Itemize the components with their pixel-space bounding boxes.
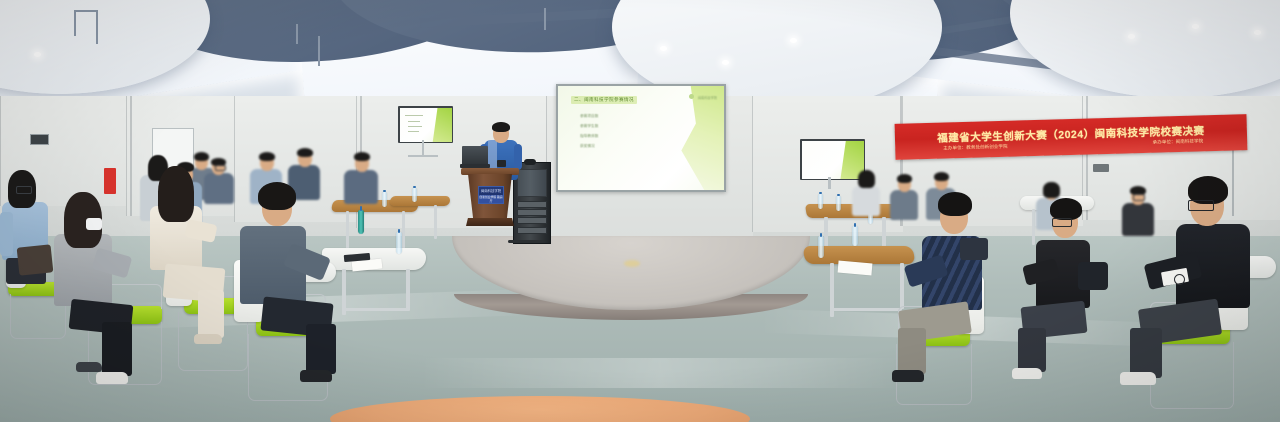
presenter-hair — [492, 122, 510, 132]
audience-member — [0, 168, 60, 318]
monitor-text-line — [408, 131, 419, 132]
leg-skirt — [198, 290, 224, 338]
ceiling-downlight — [790, 38, 797, 43]
ceiling-downlight — [1192, 24, 1199, 29]
shoe — [300, 370, 332, 382]
slide-bullet: 参赛项目数 — [580, 114, 598, 119]
leg — [306, 324, 336, 374]
ceiling-pipe — [74, 10, 96, 12]
water-bottle[interactable] — [396, 232, 402, 254]
table-leg — [406, 269, 410, 311]
ceiling-downlight — [1128, 34, 1135, 39]
hair — [258, 182, 296, 210]
shoe — [194, 334, 222, 344]
raised-platform — [452, 236, 810, 326]
wall-control-panel[interactable] — [30, 134, 49, 145]
projection-screen: 二、闽南科技学院参赛情况 闽南科技学院 参赛项目数 参赛学生数 指导教师数 获奖… — [558, 86, 724, 190]
hair — [297, 148, 313, 157]
audience-member — [52, 186, 148, 384]
shoe — [892, 370, 924, 382]
podium-laptop-base — [460, 164, 490, 168]
photo-scene: 福建省大学生创新大赛（2024）闽南科技学院校赛决赛 主办单位：教务处创新创业学… — [0, 0, 1280, 422]
podium-plaque-subtext: 创新创业学院 路演厅 — [479, 195, 503, 203]
rack-unit — [517, 209, 547, 216]
water-bottle[interactable] — [412, 188, 417, 202]
ceiling-downlight — [1254, 30, 1261, 35]
audience-member — [344, 152, 378, 204]
slide-bullet: 参赛学生数 — [580, 124, 598, 129]
thermos-bottle[interactable] — [358, 210, 364, 234]
podium-microphone-base — [497, 160, 506, 167]
monitor-text-line — [405, 115, 423, 116]
table-leg — [402, 211, 405, 251]
podium-plaque-text: 闽南科技学院 — [479, 188, 503, 193]
monitor-green-wedge — [432, 108, 452, 142]
table-crossbar — [344, 308, 408, 311]
hair — [1050, 198, 1082, 220]
ceiling-pipe — [296, 24, 298, 44]
slide-green-wedge — [672, 86, 724, 190]
slide-logo-mark — [689, 94, 694, 99]
podium-plaque: 闽南科技学院 创新创业学院 路演厅 — [478, 186, 504, 204]
water-bottle[interactable] — [836, 196, 841, 211]
audience-member — [1022, 196, 1108, 386]
left-monitor-stand — [422, 140, 424, 156]
slide-title: 二、闽南科技学院参赛情况 — [571, 96, 637, 104]
monitor-text-line — [408, 121, 420, 122]
monitor-text-line — [408, 126, 422, 127]
rack-unit — [517, 217, 547, 224]
water-bottle[interactable] — [382, 192, 387, 207]
presenter-arm — [514, 144, 522, 170]
projection-screen-frame: 二、闽南科技学院参赛情况 闽南科技学院 参赛项目数 参赛学生数 指导教师数 获奖… — [556, 84, 726, 192]
handbag[interactable] — [17, 244, 54, 275]
platform-marking — [624, 260, 640, 267]
banner-subtitle-left: 主办单位：教务处创新创业学院 — [943, 144, 1007, 152]
ceiling-pipe — [74, 10, 76, 36]
water-bottle[interactable] — [818, 194, 823, 209]
table-leg — [434, 205, 437, 239]
leg — [898, 328, 926, 374]
table-top — [389, 196, 450, 206]
hair — [158, 166, 194, 222]
water-bottle[interactable] — [818, 236, 824, 258]
glasses — [1188, 200, 1214, 211]
right-monitor-stand — [828, 177, 831, 189]
ceiling-downlight — [34, 52, 41, 57]
wall-vent — [1093, 164, 1109, 172]
slide-logo-text: 闽南科技学院 — [698, 95, 717, 100]
water-bottle[interactable] — [852, 226, 858, 246]
leg — [1130, 328, 1162, 378]
podium-laptop-screen — [462, 146, 488, 165]
floor-reflection — [420, 358, 900, 388]
rack-unit — [517, 201, 547, 208]
leg — [102, 322, 132, 376]
audience-member — [852, 170, 880, 216]
ceiling-pipe — [544, 8, 546, 30]
rack-unit — [517, 227, 547, 234]
glasses — [1052, 218, 1072, 227]
torso — [344, 170, 378, 204]
leg — [1018, 328, 1046, 372]
backpack[interactable] — [1078, 262, 1108, 290]
face-mask — [86, 218, 102, 230]
hair — [938, 192, 972, 216]
shoe — [1120, 372, 1156, 385]
slide-bullet: 指导教师数 — [580, 134, 598, 139]
hair — [259, 152, 275, 161]
audience-member — [228, 178, 342, 386]
left-wall-monitor — [398, 106, 453, 143]
hair — [897, 174, 912, 183]
left-monitor-base — [408, 155, 438, 157]
ceiling-downlight — [722, 60, 729, 65]
bag[interactable] — [960, 238, 988, 260]
podium-top — [461, 168, 519, 175]
ceiling-pipe — [96, 10, 98, 44]
shoe — [96, 372, 128, 384]
glasses — [16, 186, 32, 194]
podium-base — [466, 218, 514, 226]
left-monitor-content — [400, 108, 452, 142]
banner-subtitle-right: 承办单位：闽南科技学院 — [1153, 138, 1204, 145]
torso — [852, 186, 880, 216]
audience-member — [898, 190, 1008, 388]
hair — [858, 170, 875, 188]
shoe — [1012, 368, 1042, 379]
audience-member — [144, 162, 236, 358]
wristwatch — [1174, 274, 1185, 285]
hair — [934, 172, 949, 181]
table-leg — [346, 211, 349, 251]
rack-cable — [508, 240, 544, 243]
arm — [0, 212, 13, 256]
ceiling-pipe — [318, 36, 320, 66]
ceiling-downlight — [660, 46, 667, 51]
shoe — [76, 362, 102, 372]
rack-top-device — [524, 159, 536, 165]
slide-bullet: 获奖情况 — [580, 144, 595, 149]
hair — [354, 152, 370, 161]
audience-member — [1140, 174, 1270, 386]
